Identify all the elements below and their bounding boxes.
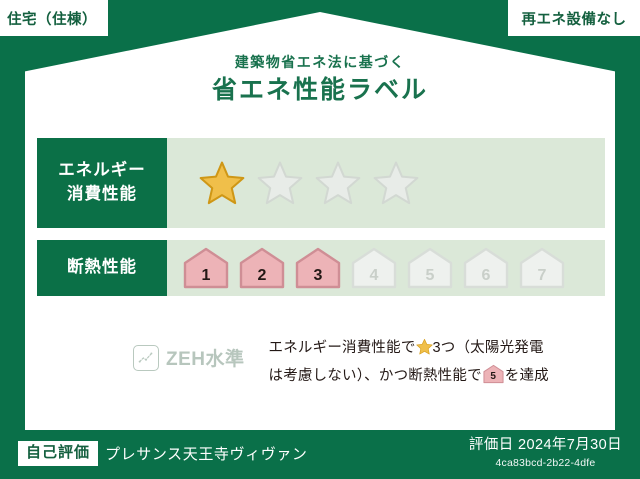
insulation-grade-badge: 5: [405, 246, 455, 290]
inline-star-icon: [416, 338, 433, 364]
zeh-mark: ZEH水準: [37, 336, 245, 371]
renewable-energy-tab: 再エネ設備なし: [508, 0, 640, 36]
insulation-grade-value: 3: [293, 268, 343, 284]
inline-house-badge-value: 5: [482, 372, 505, 382]
building-type-tab-label: 住宅（住棟）: [7, 8, 97, 29]
insulation-grade-badge: 2: [237, 246, 287, 290]
insulation-rating-value: 1234567: [167, 240, 605, 296]
footer-right: 評価日 2024年7月30日 4ca83bcd-2b22-4dfe: [469, 433, 622, 469]
insulation-grade-value: 1: [181, 268, 231, 284]
zeh-desc-line1-part1: エネルギー消費性能で: [269, 340, 416, 356]
star-rating: [197, 159, 421, 207]
star-icon-empty: [371, 159, 421, 207]
insulation-grade-value: 4: [349, 268, 399, 284]
zeh-desc-line2-part2: を達成: [505, 368, 549, 384]
insulation-label-line1: 断熱性能: [67, 256, 137, 280]
zeh-standard-icon: [133, 345, 159, 371]
insulation-grade-value: 6: [461, 268, 511, 284]
self-evaluation-badge: 自己評価: [18, 441, 98, 467]
evaluation-date: 評価日 2024年7月30日: [469, 433, 622, 454]
insulation-grade-value: 2: [237, 268, 287, 284]
zeh-description: エネルギー消費性能で 3つ（太陽光発電 は考慮しない）、かつ断熱性能で 5を達成: [245, 336, 605, 390]
building-name: プレサンス天王寺ヴィヴァン: [105, 443, 308, 464]
insulation-grade-value: 7: [517, 268, 567, 284]
zeh-section: ZEH水準 エネルギー消費性能で 3つ（太陽光発電 は考慮しない）、かつ断熱性能…: [37, 336, 605, 390]
insulation-performance-label-block: 断熱性能: [37, 240, 167, 296]
renewable-energy-tab-label: 再エネ設備なし: [522, 8, 627, 29]
insulation-grade-badge: 3: [293, 246, 343, 290]
insulation-grade-value: 5: [405, 268, 455, 284]
energy-performance-row: エネルギー 消費性能: [37, 138, 605, 228]
energy-performance-label: 住宅（住棟） 再エネ設備なし 建築物省エネ法に基づく 省エネ性能ラベル エネルギ…: [0, 0, 640, 479]
footer-left: 自己評価 プレサンス天王寺ヴィヴァン: [18, 441, 308, 467]
energy-rating-value: [167, 138, 605, 228]
insulation-grade-badge: 1: [181, 246, 231, 290]
star-icon-empty: [313, 159, 363, 207]
evaluation-id: 4ca83bcd-2b22-4dfe: [469, 457, 622, 469]
insulation-grade-badge: 6: [461, 246, 511, 290]
zeh-mark-label: ZEH水準: [166, 344, 245, 371]
energy-performance-label-block: エネルギー 消費性能: [37, 138, 167, 228]
insulation-grade-badge: 7: [517, 246, 567, 290]
star-icon-filled: [197, 159, 247, 207]
zeh-desc-line2-part1: は考慮しない）、かつ断熱性能で: [269, 368, 482, 384]
insulation-performance-row: 断熱性能 1234567: [37, 240, 605, 296]
zeh-desc-line1-part2: 3つ（太陽光発電: [433, 340, 544, 356]
energy-label-line1: エネルギー: [58, 159, 146, 183]
insulation-grade-scale: 1234567: [181, 246, 567, 290]
energy-label-line2: 消費性能: [67, 183, 137, 207]
insulation-grade-badge: 4: [349, 246, 399, 290]
star-icon-empty: [255, 159, 305, 207]
inline-house-badge: 5: [482, 364, 505, 384]
building-type-tab: 住宅（住棟）: [0, 0, 108, 36]
